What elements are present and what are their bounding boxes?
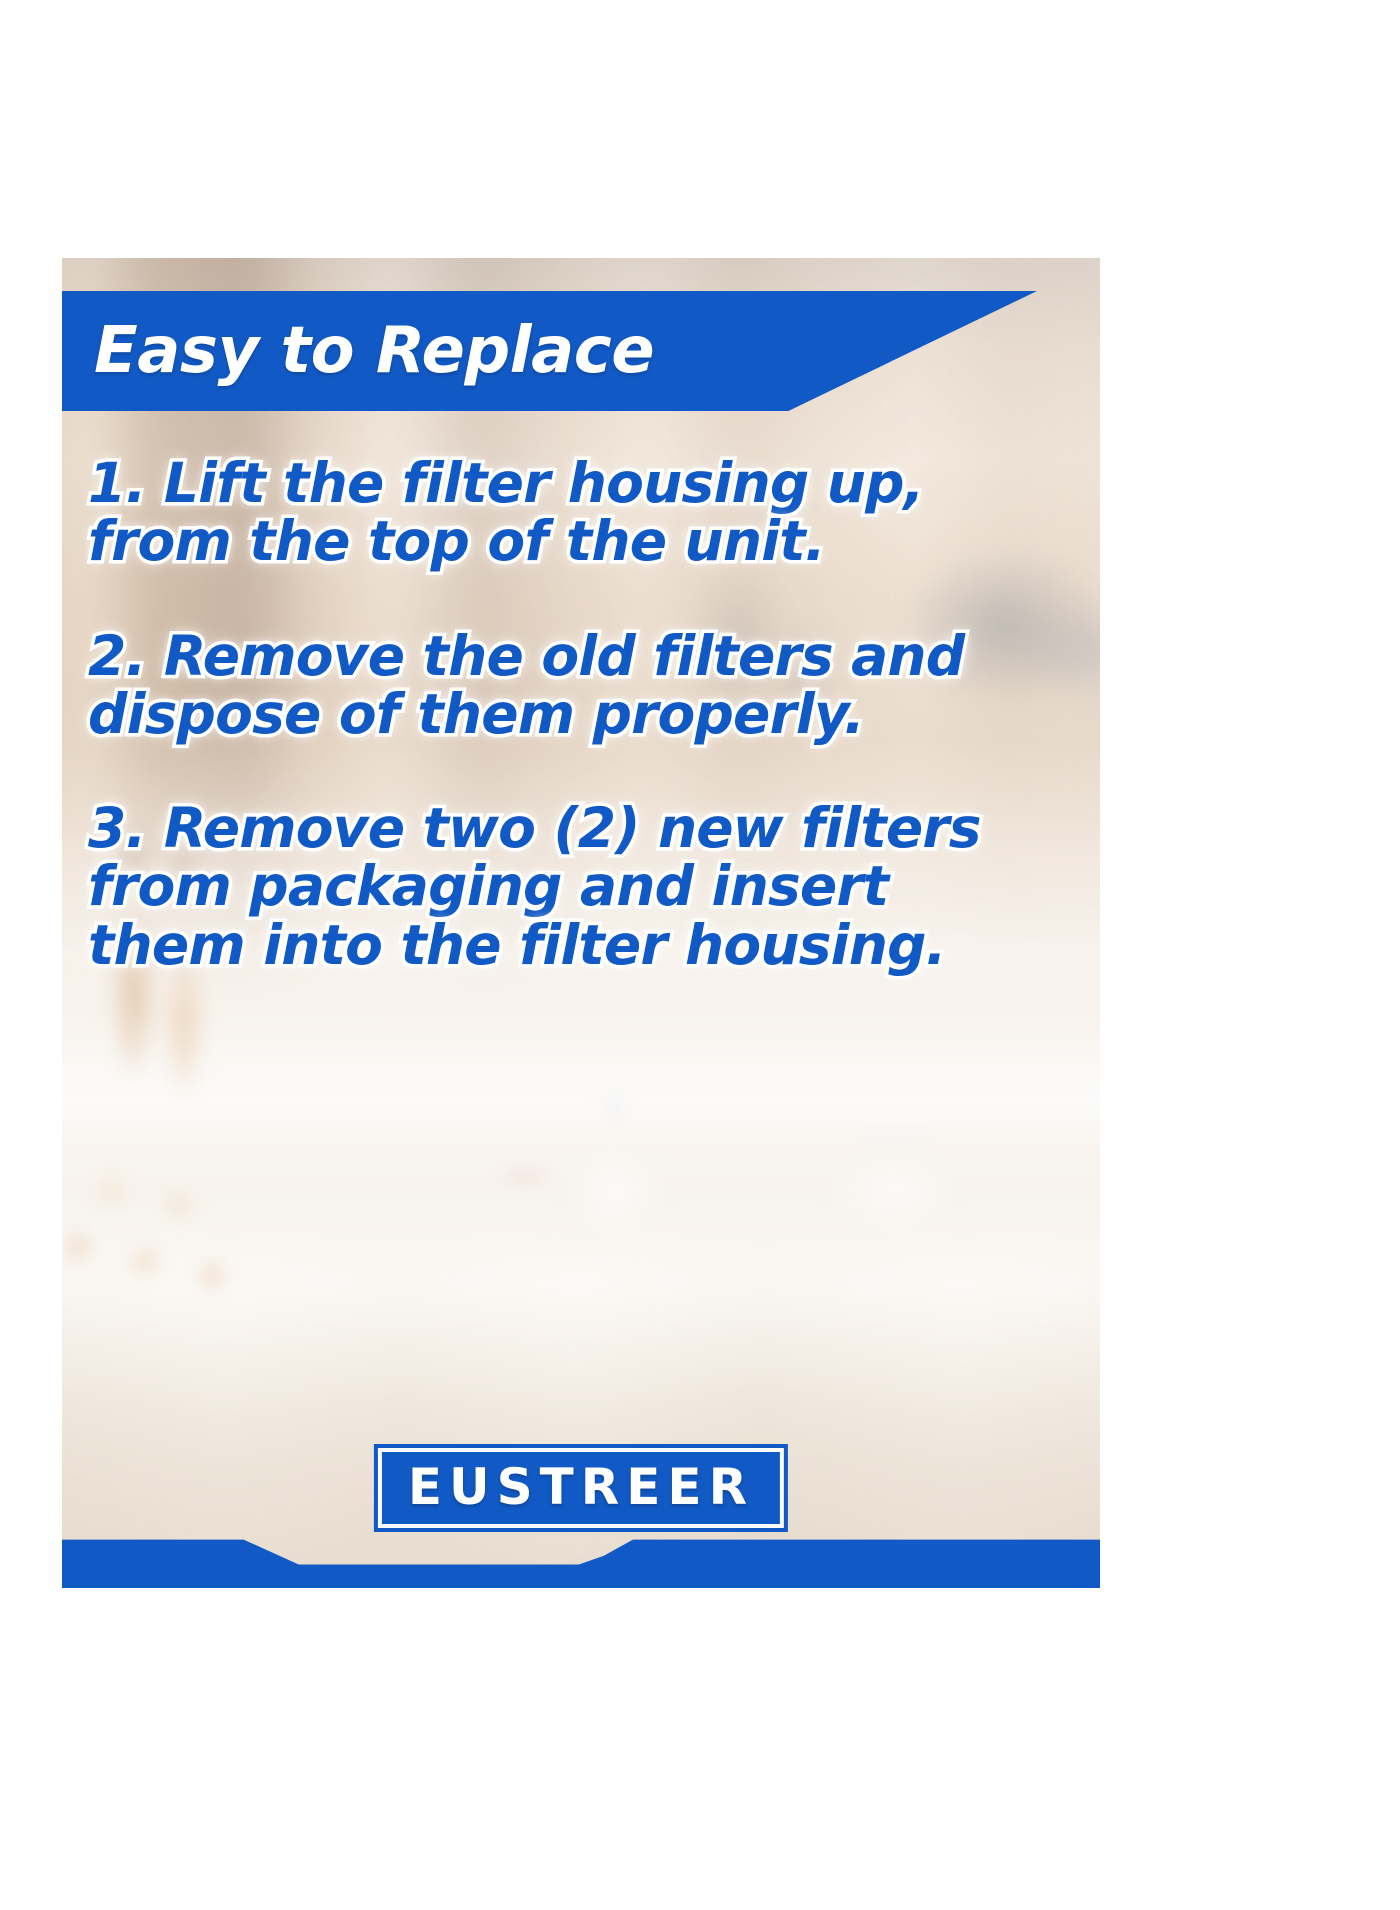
instruction-step-3: 3. Remove two (2) new filters from packa… [88,799,1088,974]
instruction-steps-list: 1. Lift the filter housing up, from the … [88,454,1088,974]
brand-logo: EUSTREER [378,1448,784,1528]
instruction-step-1: 1. Lift the filter housing up, from the … [88,454,1088,571]
instruction-step-2: 2. Remove the old filters and dispose of… [88,627,1088,744]
footer-bar [62,1526,1100,1588]
product-photo-panel: Easy to Replace 1. Lift the filter housi… [62,258,1100,1588]
brand-logo-text: EUSTREER [408,1462,754,1512]
page-title: Easy to Replace [94,314,654,388]
header-banner: Easy to Replace [62,291,1037,411]
brand-logo-box: EUSTREER [378,1448,784,1528]
